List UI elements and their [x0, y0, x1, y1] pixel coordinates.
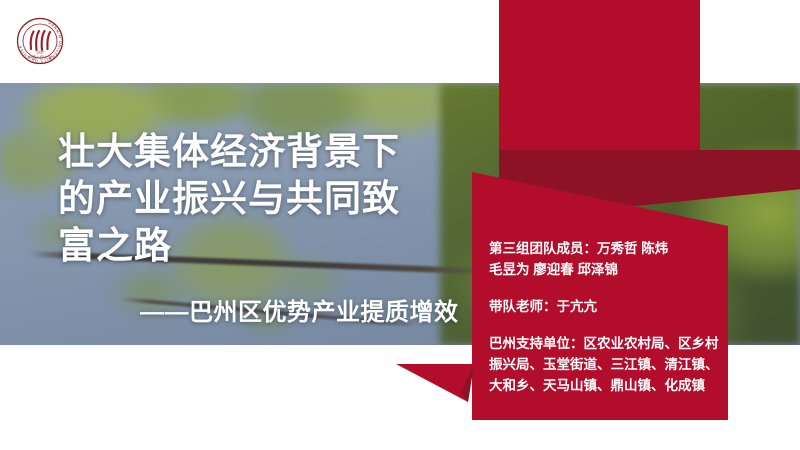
title-line-3: 富之路	[58, 222, 468, 269]
slide-title: 壮大集体经济背景下 的产业振兴与共同致 富之路	[58, 128, 468, 269]
slide-subtitle: ——巴州区优势产业提质增效	[140, 292, 459, 327]
supporters-block: 巴州支持单位：区农业农村局、区乡村振兴局、玉堂街道、三江镇、清江镇、大和乡、天马…	[489, 333, 719, 396]
title-line-1: 壮大集体经济背景下	[58, 128, 468, 175]
team-members-block: 第三组团队成员：万秀哲 陈炜 毛昱为 廖迎春 邱泽锦	[489, 238, 719, 280]
university-logo: 1937 中国人民大学 RENMIN UNIVERSITY OF CHINA	[16, 17, 64, 65]
panel-text-group: 第三组团队成员：万秀哲 陈炜 毛昱为 廖迎春 邱泽锦 带队老师：于亢亢 巴州支持…	[489, 238, 719, 396]
svg-text:1937: 1937	[36, 51, 44, 55]
title-line-2: 的产业振兴与共同致	[58, 175, 468, 222]
supporters-text: 巴州支持单位：区农业农村局、区乡村振兴局、玉堂街道、三江镇、清江镇、大和乡、天马…	[489, 333, 719, 396]
team-members-line-1: 第三组团队成员：万秀哲 陈炜	[489, 238, 719, 259]
advisor-line: 带队老师：于亢亢	[489, 296, 719, 317]
red-arrow-shape	[396, 362, 474, 402]
advisor-block: 带队老师：于亢亢	[489, 296, 719, 317]
presentation-slide: 1937 中国人民大学 RENMIN UNIVERSITY OF CHINA 壮…	[0, 0, 800, 450]
renmin-university-seal-icon: 1937 中国人民大学 RENMIN UNIVERSITY OF CHINA	[16, 17, 64, 65]
team-members-line-2: 毛昱为 廖迎春 邱泽锦	[489, 259, 719, 280]
